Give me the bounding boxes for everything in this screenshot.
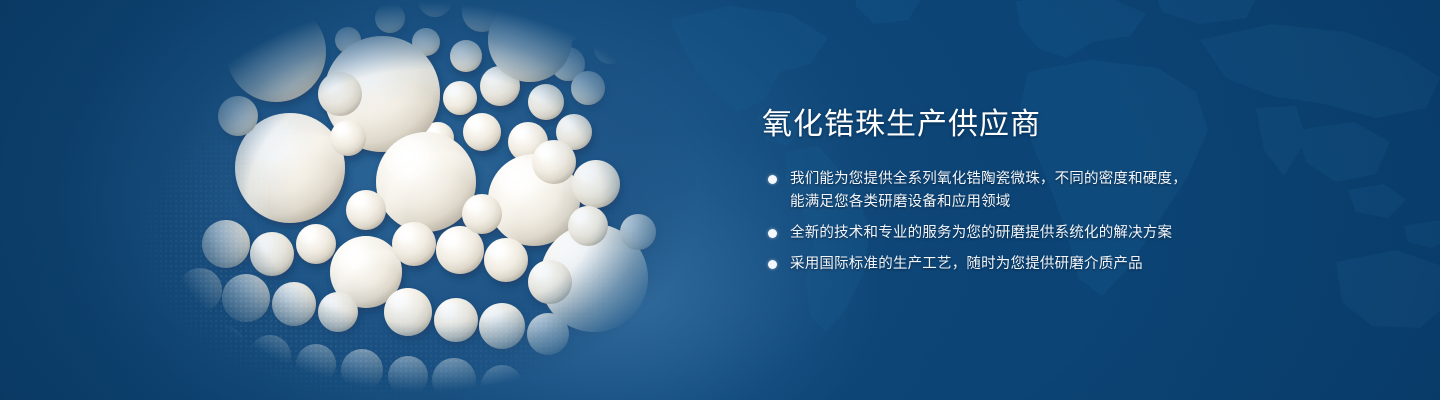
- page-title: 氧化锆珠生产供应商: [762, 108, 1232, 142]
- bullet-dot-icon: [768, 175, 777, 184]
- list-item-line: 能满足您各类研磨设备和应用领域: [790, 191, 1232, 213]
- bullet-dot-icon: [768, 229, 777, 238]
- banner-copy: 氧化锆珠生产供应商 我们能为您提供全系列氧化锆陶瓷微珠，不同的密度和硬度， 能满…: [762, 108, 1232, 275]
- list-item: 我们能为您提供全系列氧化锆陶瓷微珠，不同的密度和硬度， 能满足您各类研磨设备和应…: [762, 168, 1232, 213]
- list-item-line: 我们能为您提供全系列氧化锆陶瓷微珠，不同的密度和硬度，: [790, 168, 1232, 190]
- list-item-line: 采用国际标准的生产工艺，随时为您提供研磨介质产品: [790, 253, 1232, 275]
- list-item: 全新的技术和专业的服务为您的研磨提供系统化的解决方案: [762, 222, 1232, 244]
- bullet-dot-icon: [768, 260, 777, 269]
- hero-banner: 氧化锆珠生产供应商 我们能为您提供全系列氧化锆陶瓷微珠，不同的密度和硬度， 能满…: [0, 0, 1440, 400]
- list-item-line: 全新的技术和专业的服务为您的研磨提供系统化的解决方案: [790, 222, 1232, 244]
- list-item: 采用国际标准的生产工艺，随时为您提供研磨介质产品: [762, 253, 1232, 275]
- feature-list: 我们能为您提供全系列氧化锆陶瓷微珠，不同的密度和硬度， 能满足您各类研磨设备和应…: [762, 168, 1232, 275]
